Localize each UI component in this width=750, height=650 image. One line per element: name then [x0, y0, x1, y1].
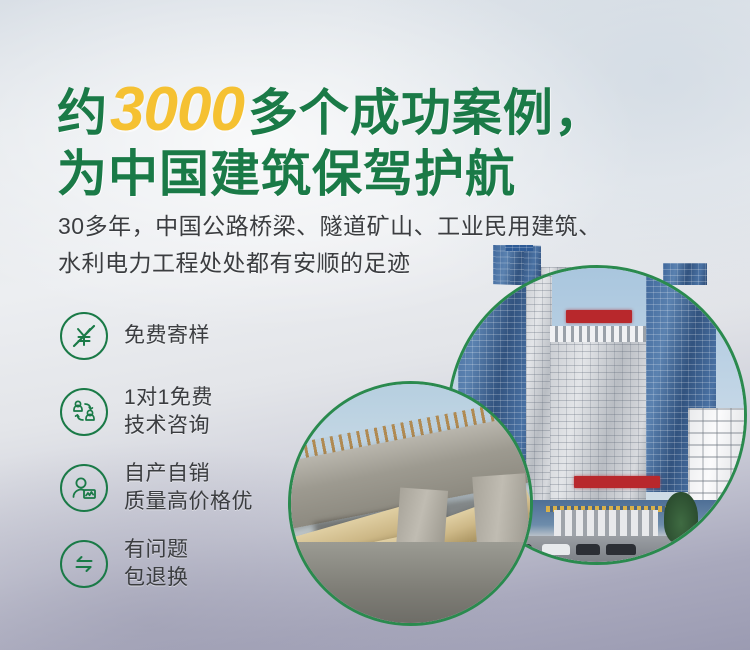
- bridge-scene: [291, 384, 530, 623]
- feature-label: 有问题 包退换: [124, 536, 189, 593]
- construction-ground-rubble: [291, 542, 530, 623]
- feature-line-1: 免费寄样: [124, 324, 210, 347]
- facade-red-sign: [574, 476, 660, 488]
- feature-line-1: 1对1免费: [124, 384, 213, 412]
- feature-item-quality-price[interactable]: 自产自销 质量高价格优: [60, 450, 253, 526]
- subtitle-line-1: 30多年，中国公路桥梁、隧道矿山、工业民用建筑、: [58, 208, 602, 245]
- parked-car-dark-1: [576, 544, 600, 555]
- feature-line-2: 质量高价格优: [124, 488, 253, 516]
- person-chart-icon: [60, 464, 108, 512]
- entrance-columns: [554, 510, 658, 536]
- two-people-exchange-icon: [60, 388, 108, 436]
- headline-prefix: 约: [57, 88, 108, 139]
- subtitle-line-2: 水利电力工程处处都有安顺的足迹: [58, 245, 602, 282]
- page-title: 约 3000 多个成功案例， 为中国建筑保驾护航: [57, 78, 605, 200]
- feature-list: 免费寄样 1对1免费 技术咨询: [60, 298, 253, 602]
- street-tree: [664, 492, 698, 544]
- headline-line-1: 约 3000 多个成功案例，: [57, 78, 605, 141]
- feature-line-1: 有问题: [124, 536, 189, 564]
- feature-line-1: 自产自销: [124, 460, 253, 488]
- feature-item-consultation[interactable]: 1对1免费 技术咨询: [60, 374, 253, 450]
- subtitle: 30多年，中国公路桥梁、隧道矿山、工业民用建筑、 水利电力工程处处都有安顺的足迹: [58, 208, 602, 283]
- parked-car-dark-2: [606, 544, 636, 555]
- feature-label: 1对1免费 技术咨询: [124, 384, 213, 441]
- feature-label: 免费寄样: [124, 322, 210, 350]
- central-block-parapet: [550, 326, 646, 342]
- headline-suffix: 多个成功案例，: [248, 88, 605, 139]
- promo-banner: 约 3000 多个成功案例， 为中国建筑保驾护航 30多年，中国公路桥梁、隧道矿…: [0, 0, 750, 650]
- parked-van-white: [542, 544, 570, 555]
- feature-item-free-sample[interactable]: 免费寄样: [60, 298, 253, 374]
- feature-line-2: 技术咨询: [124, 412, 213, 440]
- headline-number: 3000: [108, 78, 248, 141]
- feature-line-2: 包退换: [124, 564, 189, 592]
- two-way-arrows-icon: [60, 540, 108, 588]
- bridge-photo: [288, 381, 533, 626]
- yen-crossed-out-icon: [60, 312, 108, 360]
- rooftop-red-sign: [566, 310, 632, 323]
- feature-label: 自产自销 质量高价格优: [124, 460, 253, 517]
- feature-item-return-exchange[interactable]: 有问题 包退换: [60, 526, 253, 602]
- headline-line-2: 为中国建筑保驾护航: [57, 149, 605, 200]
